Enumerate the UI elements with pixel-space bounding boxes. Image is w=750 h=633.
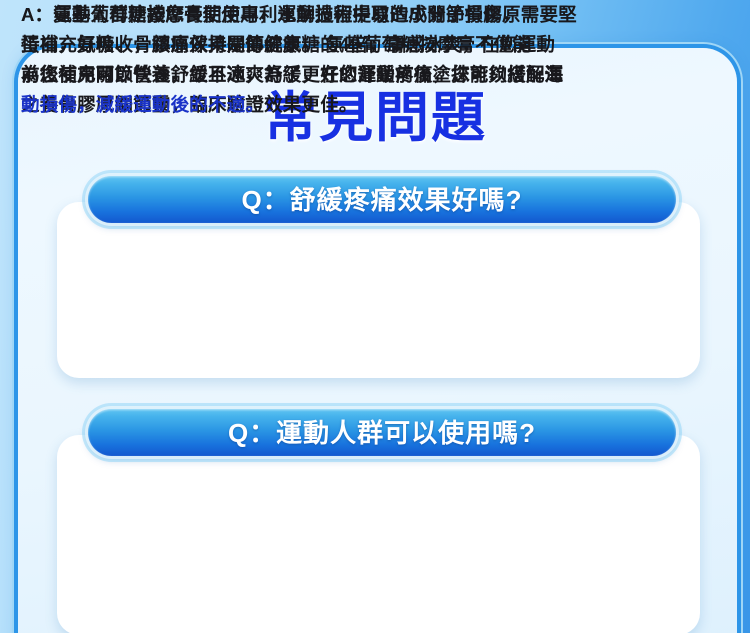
question-banner[interactable]: Q：運動人群可以使用嗎? xyxy=(88,409,676,456)
answer-line: A：運動人群建議您長期使用，運動過程中易造成關節損傷，需要堅 xyxy=(21,0,626,30)
answer-card xyxy=(57,435,700,633)
answer-line: 持補充氨糖、骨膠原保持關節健康。 氨基葡萄糖按摩膏不僅能 xyxy=(21,30,626,60)
answer-text-block: A：運動人群建議您長期使用，運動過程中易造成關節損傷，需要堅 持補充氨糖、骨膠原… xyxy=(21,0,626,120)
answer-card xyxy=(57,202,700,378)
question-text: Q：運動人群可以使用嗎? xyxy=(228,418,536,448)
answer-line: 動損傷，減緩運動後的不適。 xyxy=(21,90,626,120)
answer-line: 為您補充關節營養，並且冰爽舒緩，在您運動前後塗抹能夠緩解運 xyxy=(21,60,626,90)
faq-page: 常見問題 Q：舒緩疼痛效果好嗎? A：氨基葡萄糖按摩膏使用專利水解技術提取的小分… xyxy=(0,0,750,633)
question-banner[interactable]: Q：舒緩疼痛效果好嗎? xyxy=(88,176,676,223)
question-text: Q：舒緩疼痛效果好嗎? xyxy=(241,185,522,215)
